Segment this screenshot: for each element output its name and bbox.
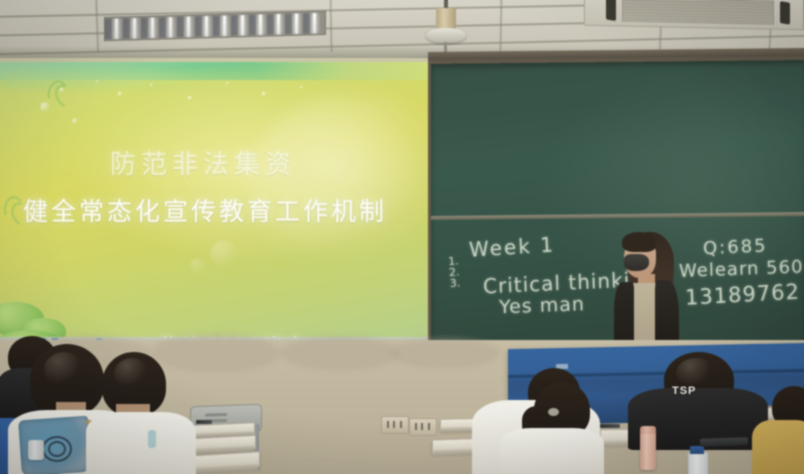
presenter bbox=[598, 228, 706, 354]
presenter-face-mask bbox=[624, 254, 649, 271]
pen-on-desk[interactable] bbox=[196, 420, 212, 424]
cup-on-desk[interactable] bbox=[28, 440, 44, 460]
wall-outlet bbox=[381, 416, 409, 434]
phone-on-desk[interactable] bbox=[700, 437, 748, 447]
slide-subtitle: 健全常态化宣传教育工作机制 bbox=[0, 192, 410, 228]
shirt-print-tsp: TSP bbox=[672, 385, 696, 397]
ceiling-air-conditioner bbox=[584, 0, 804, 30]
chalk-note-qq: Q:685 bbox=[703, 235, 768, 259]
student-white-tee bbox=[86, 412, 196, 474]
student-yellow-shirt bbox=[752, 420, 804, 474]
chalk-note-numbering: 1. 2. 3. bbox=[448, 255, 461, 289]
classroom-photo: 防范非法集资 健全常态化宣传教育工作机制 物流2201班会 Week 1 1. … bbox=[0, 0, 804, 474]
student-ponytail bbox=[500, 428, 604, 474]
pink-thermos[interactable] bbox=[640, 428, 656, 470]
wall-outlet-2 bbox=[409, 418, 437, 436]
slide-title: 防范非法集资 bbox=[38, 144, 368, 181]
shirt-logo bbox=[148, 430, 156, 448]
water-bottle[interactable] bbox=[688, 452, 708, 474]
chalk-note-yes-man: Yes man bbox=[499, 293, 585, 318]
chalk-note-week: Week 1 bbox=[468, 232, 555, 261]
bottle-cap bbox=[690, 446, 704, 454]
projection-screen: 防范非法集资 健全常态化宣传教育工作机制 物流2201班会 bbox=[0, 62, 428, 344]
pen-on-desk[interactable] bbox=[600, 424, 620, 428]
blackboard-divider bbox=[431, 212, 804, 220]
fluorescent-light-panel bbox=[104, 11, 326, 41]
